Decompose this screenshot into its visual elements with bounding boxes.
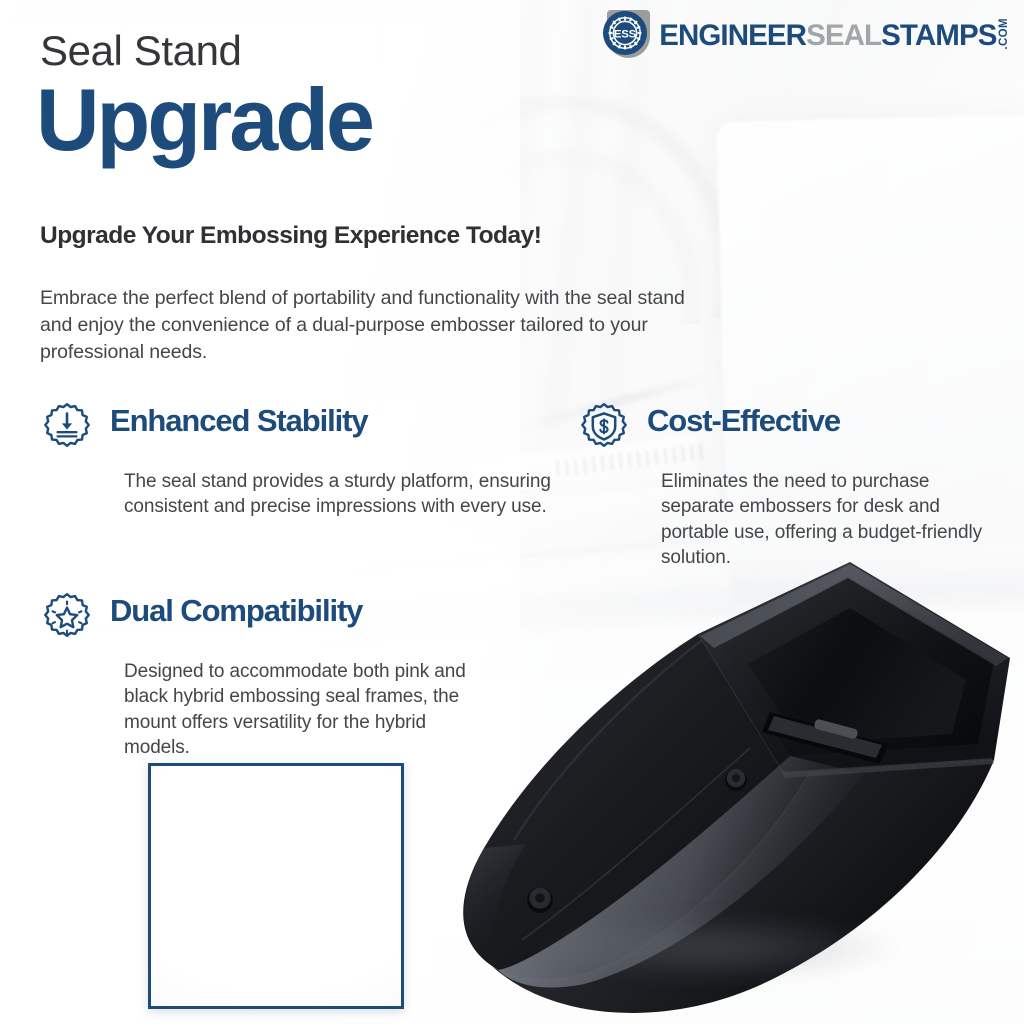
svg-text:ESS: ESS (614, 28, 637, 40)
subheadline: Upgrade Your Embossing Experience Today! (40, 222, 541, 250)
gear-shield-icon: ESS (603, 10, 650, 58)
wordmark-engineer: ENGINEER (659, 21, 806, 51)
feature-cost-effective: Cost-Effective Eliminates the need to pu… (575, 398, 1021, 570)
wordmark-dotcom: .COM (999, 18, 1011, 50)
feature-enhanced-stability: Enhanced Stability The seal stand provid… (38, 398, 583, 520)
wordmark-stamps: STAMPS (881, 21, 996, 51)
brand-wordmark: ENGINEER SEAL STAMPS .COM (659, 18, 1010, 51)
press-down-badge-icon (38, 400, 96, 458)
wordmark-seal: SEAL (806, 21, 881, 51)
feature-dual-compatibility: Dual Compatibility Designed to accommoda… (38, 588, 538, 760)
feature-title: Enhanced Stability (110, 405, 368, 438)
star-sparkle-badge-icon (38, 590, 96, 648)
feature-body: Designed to accommodate both pink and bl… (124, 659, 474, 760)
kicker-text: Seal Stand (40, 27, 242, 75)
shield-dollar-badge-icon (575, 400, 633, 458)
intro-paragraph: Embrace the perfect blend of portability… (40, 285, 710, 366)
feature-body: Eliminates the need to purchase separate… (661, 469, 1001, 570)
inset-product-photo (148, 763, 404, 1009)
infographic-poster: ESS ENGINEER SEAL STAMPS .COM Seal Stand… (0, 0, 1024, 1024)
feature-title: Cost-Effective (647, 405, 840, 438)
brand-logo[interactable]: ESS ENGINEER SEAL STAMPS .COM (603, 10, 1010, 58)
page-title: Upgrade (36, 78, 372, 162)
feature-title: Dual Compatibility (110, 595, 362, 628)
feature-body: The seal stand provides a sturdy platfor… (124, 469, 576, 520)
